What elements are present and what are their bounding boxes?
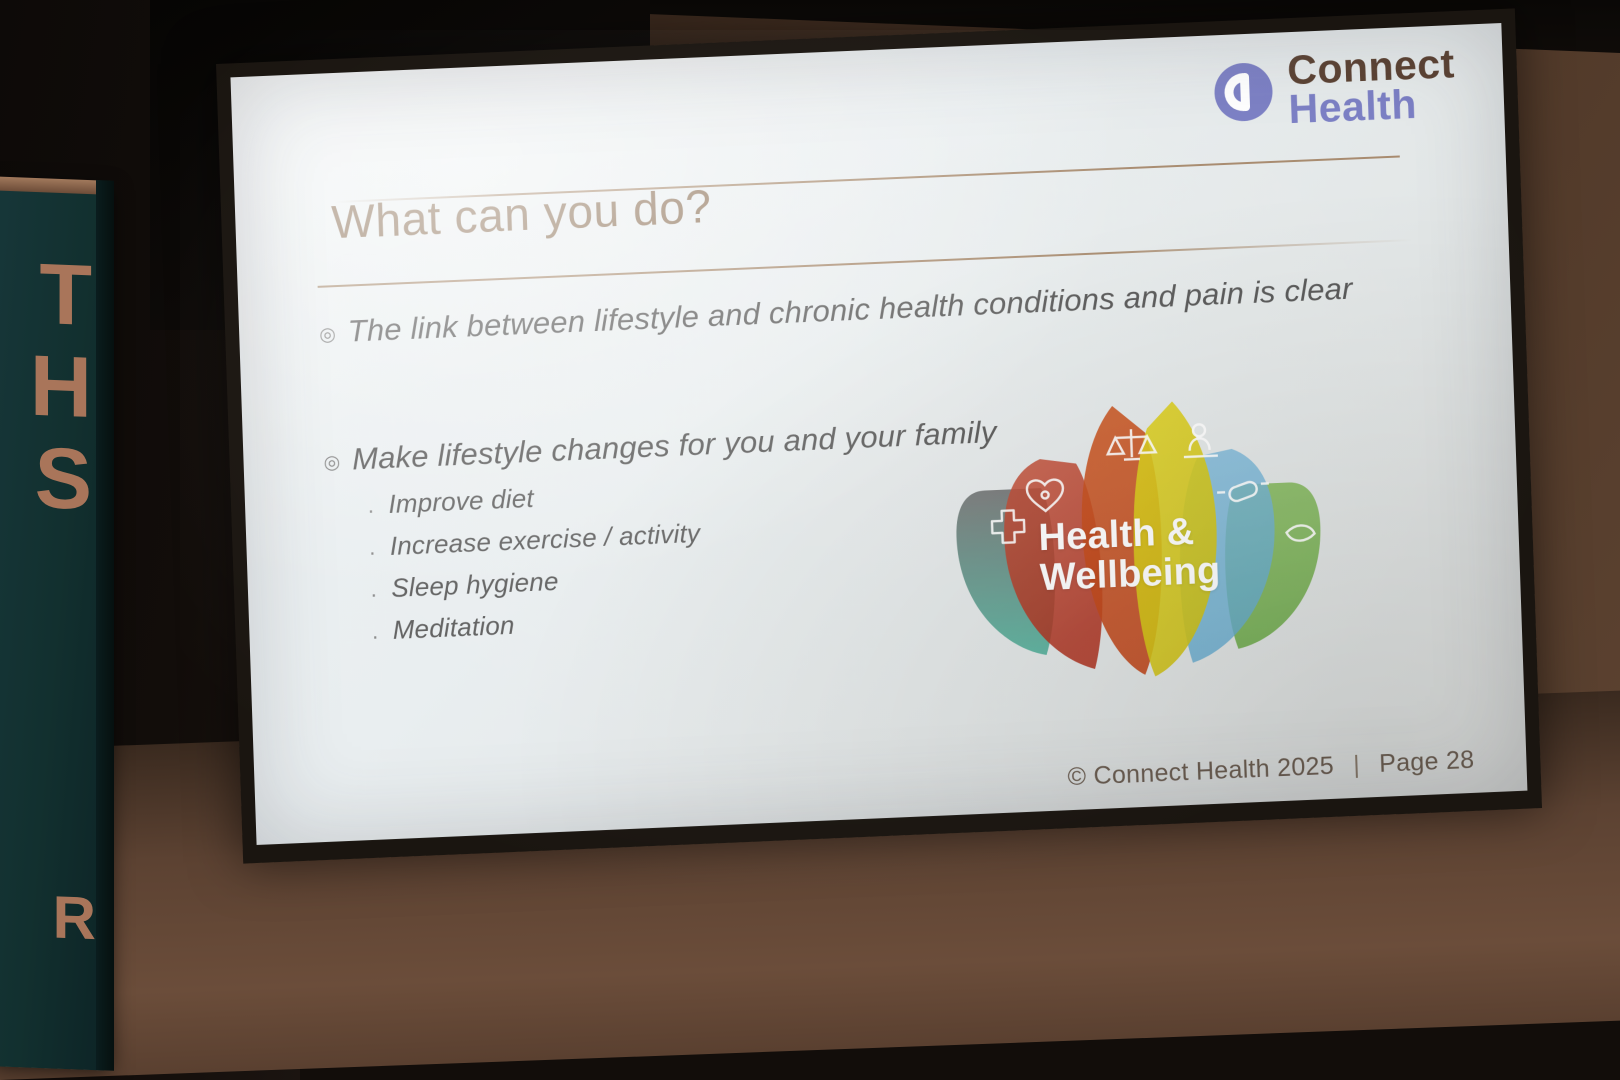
bullet-marker-icon: ◎ bbox=[323, 439, 341, 473]
conference-room-photo: T H S R Connect Health bbox=[0, 0, 1620, 1080]
projection-screen: Connect Health What can you do? ◎ The li… bbox=[216, 8, 1542, 863]
bullet-item-1: ◎ The link between lifestyle and chronic… bbox=[318, 264, 1438, 354]
connect-health-logo: Connect Health bbox=[1211, 43, 1457, 133]
rollup-banner-sub-letter: R bbox=[0, 880, 104, 954]
slide-footer: © Connect Health 2025 | Page 28 bbox=[1067, 746, 1475, 792]
presentation-slide: Connect Health What can you do? ◎ The li… bbox=[230, 23, 1527, 845]
sub-bullet-marker-icon: · bbox=[369, 573, 377, 605]
sub-bullet-text-3: Sleep hygiene bbox=[391, 566, 559, 604]
title-rule-top bbox=[335, 155, 1400, 203]
connect-health-c-mark-icon bbox=[1211, 60, 1275, 125]
footer-page-number: Page 28 bbox=[1379, 746, 1475, 778]
banner-letter-1: T bbox=[0, 246, 104, 343]
footer-copyright: © Connect Health 2025 bbox=[1067, 752, 1334, 791]
banner-letter-2: H bbox=[0, 338, 104, 435]
sub-bullet-marker-icon: · bbox=[371, 615, 379, 647]
slide-title: What can you do? bbox=[331, 179, 713, 249]
banner-letter-3: S bbox=[0, 430, 104, 527]
bullet-text-1: The link between lifestyle and chronic h… bbox=[347, 268, 1353, 353]
lotus-label: Health & Wellbeing bbox=[1038, 509, 1271, 599]
sub-bullet-text-4: Meditation bbox=[392, 609, 515, 645]
sub-bullet-marker-icon: · bbox=[368, 531, 376, 563]
health-and-wellbeing-lotus-graphic: Health & Wellbeing bbox=[934, 381, 1344, 698]
footer-separator: | bbox=[1341, 750, 1373, 779]
sub-bullet-text-1: Improve diet bbox=[388, 483, 534, 520]
sub-bullet-text-2: Increase exercise / activity bbox=[389, 517, 700, 561]
logo-health-text: Health bbox=[1288, 82, 1457, 130]
sub-bullet-marker-icon: · bbox=[367, 489, 375, 521]
bullet-marker-icon: ◎ bbox=[318, 311, 336, 345]
logo-wordmark: Connect Health bbox=[1287, 43, 1457, 130]
